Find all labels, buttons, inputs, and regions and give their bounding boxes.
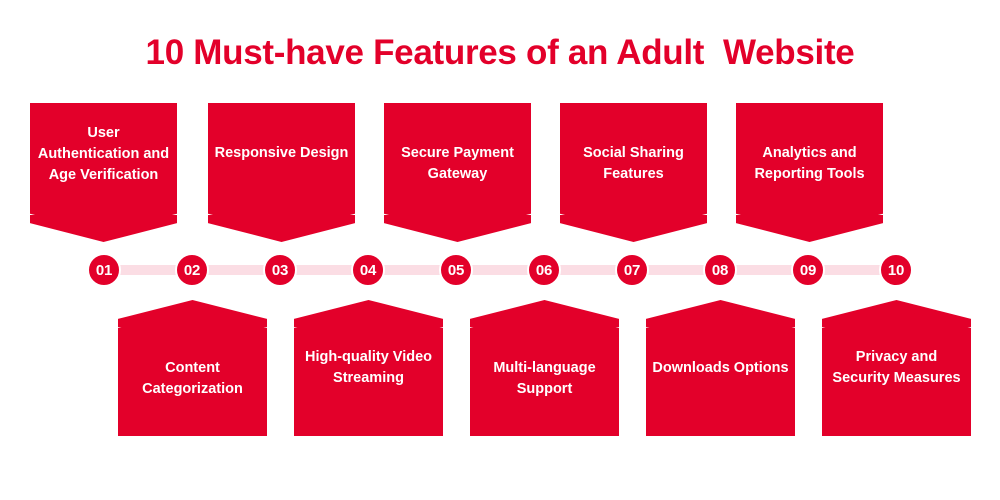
feature-card-bottom-3: Multi-language Support: [470, 300, 619, 436]
card-chevron-inner: [294, 309, 443, 336]
card-label: Downloads Options: [652, 358, 789, 379]
feature-card-bottom-2: High-quality Video Streaming: [294, 300, 443, 436]
card-chevron-inner: [384, 215, 531, 242]
timeline-marker-05[interactable]: 05: [439, 253, 473, 287]
card-chevron-inner: [470, 309, 619, 336]
card-chevron-inner: [646, 309, 795, 336]
timeline-marker-02[interactable]: 02: [175, 253, 209, 287]
card-label: Content Categorization: [124, 358, 261, 400]
feature-card-top-2: Responsive Design: [208, 103, 355, 239]
timeline-axis: [104, 265, 897, 275]
timeline-marker-06[interactable]: 06: [527, 253, 561, 287]
page-title: 10 Must-have Features of an Adult Websit…: [0, 30, 1000, 76]
card-label: Secure Payment Gateway: [390, 143, 525, 185]
card-label: Social Sharing Features: [566, 143, 701, 185]
feature-card-top-5: Analytics and Reporting Tools: [736, 103, 883, 239]
card-label: High-quality Video Streaming: [300, 347, 437, 389]
card-label: Multi-language Support: [476, 358, 613, 400]
timeline-marker-01[interactable]: 01: [87, 253, 121, 287]
card-chevron-inner: [736, 215, 883, 242]
feature-card-top-1: User Authentication and Age Verification: [30, 103, 177, 239]
card-chevron-inner: [118, 309, 267, 336]
feature-card-bottom-5: Privacy and Security Measures: [822, 300, 971, 436]
feature-card-top-3: Secure Payment Gateway: [384, 103, 531, 239]
infographic-root: 10 Must-have Features of an Adult Websit…: [0, 0, 1000, 500]
feature-card-bottom-1: Content Categorization: [118, 300, 267, 436]
card-chevron-inner: [822, 309, 971, 336]
card-label: User Authentication and Age Verification: [36, 123, 171, 186]
timeline-marker-04[interactable]: 04: [351, 253, 385, 287]
timeline-marker-08[interactable]: 08: [703, 253, 737, 287]
card-chevron-inner: [560, 215, 707, 242]
card-chevron-inner: [208, 215, 355, 242]
card-label: Privacy and Security Measures: [828, 347, 965, 389]
card-body: [646, 333, 795, 436]
feature-card-top-4: Social Sharing Features: [560, 103, 707, 239]
timeline-marker-07[interactable]: 07: [615, 253, 649, 287]
card-label: Responsive Design: [214, 143, 349, 164]
timeline-marker-09[interactable]: 09: [791, 253, 825, 287]
card-label: Analytics and Reporting Tools: [742, 143, 877, 185]
timeline-marker-10[interactable]: 10: [879, 253, 913, 287]
card-chevron-inner: [30, 215, 177, 242]
timeline-marker-03[interactable]: 03: [263, 253, 297, 287]
feature-card-bottom-4: Downloads Options: [646, 300, 795, 436]
